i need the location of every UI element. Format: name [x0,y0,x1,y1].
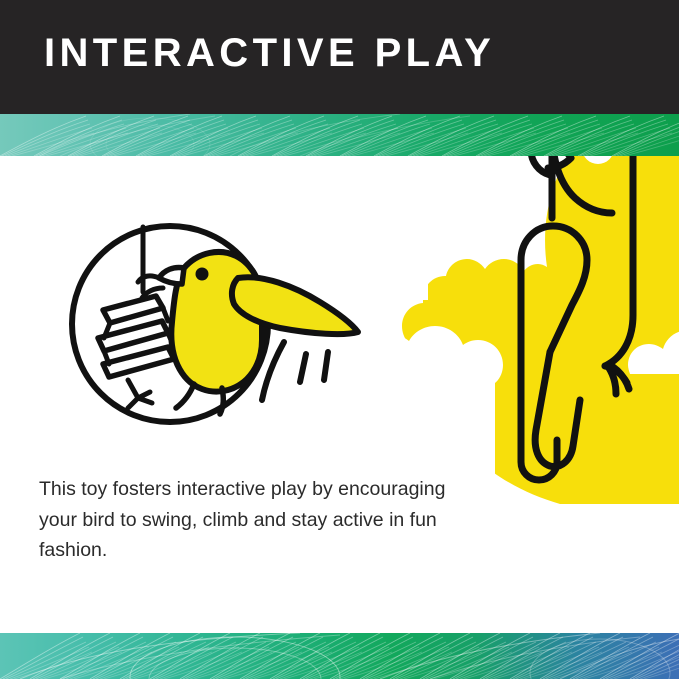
bottom-band-feather-texture [0,633,679,679]
bird-beak [159,267,184,284]
header-band: INTERACTIVE PLAY [0,0,679,114]
toy-twig [128,380,152,408]
bottom-feather-band [0,633,679,679]
bird-toy-graphic [62,212,392,437]
motion-lines [262,342,328,400]
parrot-hero-illustration [400,100,679,504]
top-feather-band [0,114,679,156]
product-feature-card: INTERACTIVE PLAY [0,0,679,679]
top-band-feather-texture [0,114,679,156]
page-title: INTERACTIVE PLAY [44,31,495,76]
bird-on-ladder-toy-icon [62,212,392,437]
description-text: This toy fosters interactive play by enc… [39,474,449,566]
description-paragraph: This toy fosters interactive play by enc… [39,474,449,566]
parrot-graphic [400,100,679,504]
bird-eye [196,268,209,281]
